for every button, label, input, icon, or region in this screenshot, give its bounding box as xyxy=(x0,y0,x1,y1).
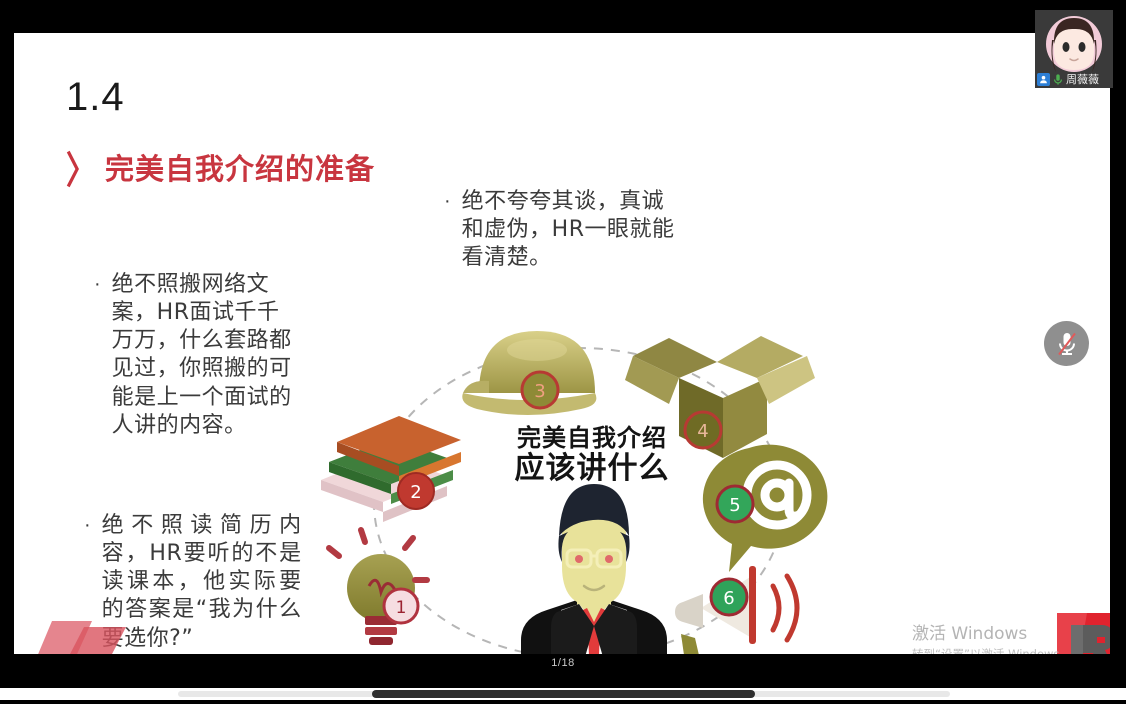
bullet-left-1-text: 绝不照搬网络文案，HR面试千千万万，什么套路都见过，你照搬的可能是上一个面试的人… xyxy=(112,271,302,440)
slide-heading-text: 完美自我介绍的准备 xyxy=(105,146,375,188)
scrollbar-thumb[interactable] xyxy=(372,690,755,698)
node-badge-2: 2 xyxy=(398,473,434,509)
node-badge-3: 3 xyxy=(522,372,558,408)
participant-video-tile[interactable]: 周薇薇 xyxy=(1035,10,1113,88)
lightbulb-icon xyxy=(329,530,427,645)
bullet-right-1: · 绝不夸夸其谈，真诚和虚伪，HR一眼就能看清楚。 xyxy=(444,188,694,272)
bullet-dot-icon: · xyxy=(84,512,91,538)
bullet-dot-icon: · xyxy=(94,271,101,297)
node-badge-6: 6 xyxy=(711,579,747,615)
bullet-left-1: · 绝不照搬网络文案，HR面试千千万万，什么套路都见过，你照搬的可能是上一个面试… xyxy=(94,271,316,440)
decorative-shapes xyxy=(26,605,126,654)
svg-text:1: 1 xyxy=(396,598,407,618)
node-badge-5: 5 xyxy=(717,486,753,522)
horizontal-scrollbar[interactable] xyxy=(0,688,1126,700)
chevron-right-icon: 〉 xyxy=(66,140,97,195)
svg-text:3: 3 xyxy=(534,381,545,402)
svg-text:4: 4 xyxy=(697,421,708,442)
participant-name: 周薇薇 xyxy=(1066,74,1099,85)
participant-name-strip: 周薇薇 xyxy=(1035,71,1113,88)
svg-text:2: 2 xyxy=(410,482,421,503)
avatar xyxy=(1044,14,1104,74)
page-indicator: 1/18 xyxy=(0,657,1126,669)
svg-text:6: 6 xyxy=(723,588,734,609)
microphone-muted-icon xyxy=(1055,331,1079,357)
self-introduction-infographic: 1 2 3 4 5 xyxy=(309,298,849,654)
businessman-avatar-icon xyxy=(521,484,667,654)
slide-section-number: 1.4 xyxy=(66,75,125,120)
microphone-icon xyxy=(1052,73,1064,86)
node-badge-4: 4 xyxy=(685,412,721,448)
svg-text:5: 5 xyxy=(729,495,740,516)
mute-toggle-button[interactable] xyxy=(1044,321,1089,366)
brand-logo-r xyxy=(1057,613,1110,654)
bullet-right-1-text: 绝不夸夸其谈，真诚和虚伪，HR一眼就能看清楚。 xyxy=(462,188,677,272)
bullet-left-2-text: 绝不照读简历内容，HR要听的不是读课本，他实际要的答案是“我为什么要选你?” xyxy=(102,512,302,653)
presentation-slide[interactable]: 1.4 〉 完美自我介绍的准备 · 绝不照搬网络文案，HR面试千千万万，什么套路… xyxy=(14,33,1110,654)
books-icon xyxy=(321,416,461,522)
bullet-dot-icon: · xyxy=(444,188,451,214)
person-icon xyxy=(1037,73,1050,86)
screen-share-viewer: 1.4 〉 完美自我介绍的准备 · 绝不照搬网络文案，HR面试千千万万，什么套路… xyxy=(0,0,1126,704)
node-badge-1: 1 xyxy=(384,589,418,623)
slide-heading: 〉 完美自我介绍的准备 xyxy=(66,145,375,189)
open-box-icon xyxy=(625,336,815,458)
